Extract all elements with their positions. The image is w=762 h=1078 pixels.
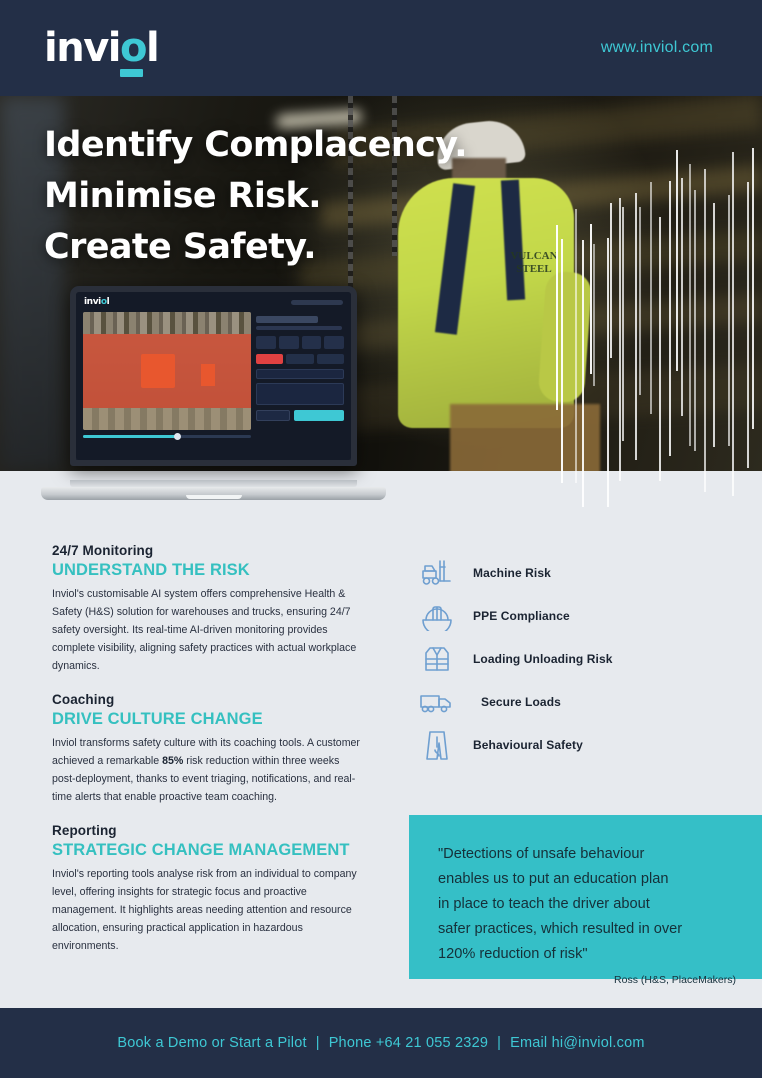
section-reporting: Reporting STRATEGIC CHANGE MANAGEMENT In… [52, 823, 362, 955]
section-kicker: Coaching [52, 692, 362, 707]
headline-line-1: Identify Complacency. [44, 120, 467, 171]
section-body: Inviol transforms safety culture with it… [52, 734, 362, 806]
feature-label: Behavioural Safety [473, 738, 583, 752]
section-monitoring: 24/7 Monitoring UNDERSTAND THE RISK Invi… [52, 543, 362, 675]
footer-contact-bar: Book a Demo or Start a Pilot|Phone +64 2… [117, 1035, 644, 1051]
logo-text-part2: l [146, 28, 158, 68]
main-content: 24/7 Monitoring UNDERSTAND THE RISK Invi… [0, 471, 762, 1008]
section-coaching: Coaching DRIVE CULTURE CHANGE Inviol tra… [52, 692, 362, 806]
feature-item-secure-loads[interactable]: Secure Loads [417, 680, 717, 723]
safety-vest-icon [417, 641, 457, 677]
panel-subtitle [256, 326, 342, 330]
quote-line-3: in place to teach the driver about [438, 896, 650, 912]
headline-line-2: Minimise Risk. [44, 171, 467, 222]
section-title: STRATEGIC CHANGE MANAGEMENT [52, 841, 362, 860]
video-scrubber[interactable] [83, 435, 251, 438]
brand-logo[interactable]: inviol [44, 28, 158, 68]
cctv-video-frame[interactable] [83, 312, 251, 430]
stat-highlight: 85% [162, 755, 183, 767]
logo-accent-letter: o [120, 28, 146, 68]
overalls-icon [417, 727, 457, 763]
logo-text-part1: invi [44, 28, 120, 68]
feature-label: Secure Loads [481, 695, 561, 709]
section-kicker: 24/7 Monitoring [52, 543, 362, 558]
section-kicker: Reporting [52, 823, 362, 838]
panel-action-buttons[interactable] [256, 354, 344, 364]
feature-label: PPE Compliance [473, 609, 570, 623]
quote-line-5: 120% reduction of risk" [438, 946, 588, 962]
laptop-hinge [70, 480, 357, 487]
headline-line-3: Create Safety. [44, 222, 467, 273]
forklift-icon [417, 555, 457, 591]
feature-item-behavioural-safety[interactable]: Behavioural Safety [417, 723, 717, 766]
hard-hat-icon [417, 598, 457, 634]
dashboard-topbar: inviol [76, 292, 351, 312]
section-title: DRIVE CULTURE CHANGE [52, 710, 362, 729]
dashboard-screen: inviol [76, 292, 351, 460]
website-url[interactable]: www.inviol.com [601, 39, 713, 57]
laptop-base [41, 487, 386, 500]
notes-textarea[interactable] [256, 383, 344, 405]
text-column: 24/7 Monitoring UNDERSTAND THE RISK Invi… [52, 543, 362, 972]
forklift-detection [141, 354, 175, 388]
feature-list: Machine Risk PPE Compliance [417, 551, 717, 766]
testimonial-card: "Detections of unsafe behaviour enables … [409, 815, 762, 979]
dashboard-user-menu[interactable] [291, 300, 343, 305]
section-body: Inviol's reporting tools analyse risk fr… [52, 865, 362, 955]
feature-item-machine-risk[interactable]: Machine Risk [417, 551, 717, 594]
hero-headline: Identify Complacency. Minimise Risk. Cre… [44, 120, 467, 273]
footer-phone[interactable]: Phone +64 21 055 2329 [329, 1035, 488, 1051]
footer-cta-link[interactable]: Book a Demo or Start a Pilot [117, 1035, 306, 1051]
feature-item-ppe-compliance[interactable]: PPE Compliance [417, 594, 717, 637]
video-column [83, 312, 251, 438]
testimonial-quote: "Detections of unsafe behaviour enables … [438, 842, 746, 967]
object-detection [201, 364, 215, 386]
testimonial-attribution: Ross (H&S, PlaceMakers) [438, 974, 746, 986]
warehouse-floor [83, 408, 251, 430]
section-title: UNDERSTAND THE RISK [52, 561, 362, 580]
panel-title [256, 316, 318, 323]
quote-line-4: safer practices, which resulted in over [438, 921, 682, 937]
dashboard-logo: inviol [84, 297, 109, 307]
poster-page: inviol www.inviol.com VULCAN STEEL [0, 0, 762, 1078]
truck-icon [417, 684, 457, 720]
footer-separator: | [307, 1035, 329, 1051]
footer-separator: | [488, 1035, 510, 1051]
section-body: Inviol's customisable AI system offers c… [52, 585, 362, 675]
quote-line-2: enables us to put an education plan [438, 871, 668, 887]
footer-email[interactable]: Email hi@inviol.com [510, 1035, 645, 1051]
quote-line-1: "Detections of unsafe behaviour [438, 846, 644, 862]
cargo-box [450, 404, 600, 471]
logo-underline-bar [120, 69, 143, 77]
detail-panel [256, 312, 344, 438]
page-header: inviol www.inviol.com [0, 0, 762, 96]
badge-line1: VULCAN [498, 250, 570, 263]
laptop-lid: inviol [70, 286, 357, 466]
dashboard-body [76, 312, 351, 438]
feature-label: Machine Risk [473, 566, 551, 580]
laptop-mockup: inviol [41, 286, 386, 508]
page-footer: Book a Demo or Start a Pilot|Phone +64 2… [0, 1008, 762, 1078]
feature-label: Loading Unloading Risk [473, 652, 613, 666]
feature-item-loading-unloading-risk[interactable]: Loading Unloading Risk [417, 637, 717, 680]
panel-meta-row [256, 336, 344, 349]
worker-arm [538, 271, 593, 404]
assign-input[interactable] [256, 369, 344, 379]
warehouse-racking [83, 312, 251, 334]
panel-footer-buttons[interactable] [256, 410, 344, 421]
